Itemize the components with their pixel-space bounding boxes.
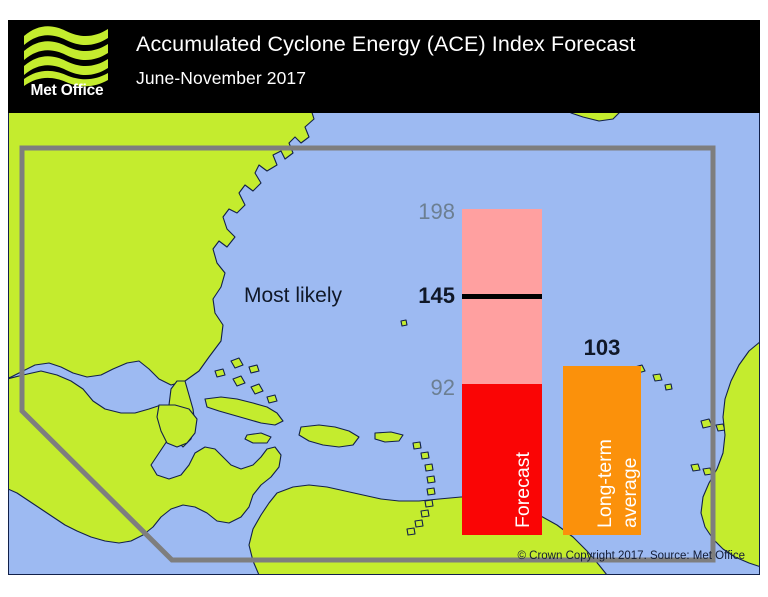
forecast-bar-caption: Forecast	[512, 452, 535, 528]
copyright-notice: © Crown Copyright 2017. Source: Met Offi…	[9, 550, 745, 562]
atlantic-basin-map: 198 92 145 Most likely 103 Forecast Long…	[8, 113, 760, 575]
ace-bar-chart: 198 92 145 Most likely 103 Forecast Long…	[9, 113, 760, 575]
forecast-lower-value-label: 92	[407, 375, 455, 401]
long-term-average-bar-caption-line1: Long-term	[594, 439, 617, 528]
forecast-median-line	[462, 294, 542, 299]
forecast-upper-value-label: 198	[407, 199, 455, 225]
long-term-average-bar-caption-line2: average	[619, 458, 642, 528]
ace-index-forecast-infographic: Met Office Accumulated Cyclone Energy (A…	[0, 0, 768, 597]
page-title: Accumulated Cyclone Energy (ACE) Index F…	[136, 32, 635, 57]
page-subtitle: June-November 2017	[136, 68, 306, 89]
long-term-average-value-label: 103	[563, 335, 641, 361]
met-office-logo-text: Met Office	[15, 82, 119, 100]
most-likely-annotation: Most likely	[244, 284, 342, 308]
forecast-median-value-label: 145	[400, 283, 455, 309]
header-bar: Met Office Accumulated Cyclone Energy (A…	[8, 20, 760, 113]
